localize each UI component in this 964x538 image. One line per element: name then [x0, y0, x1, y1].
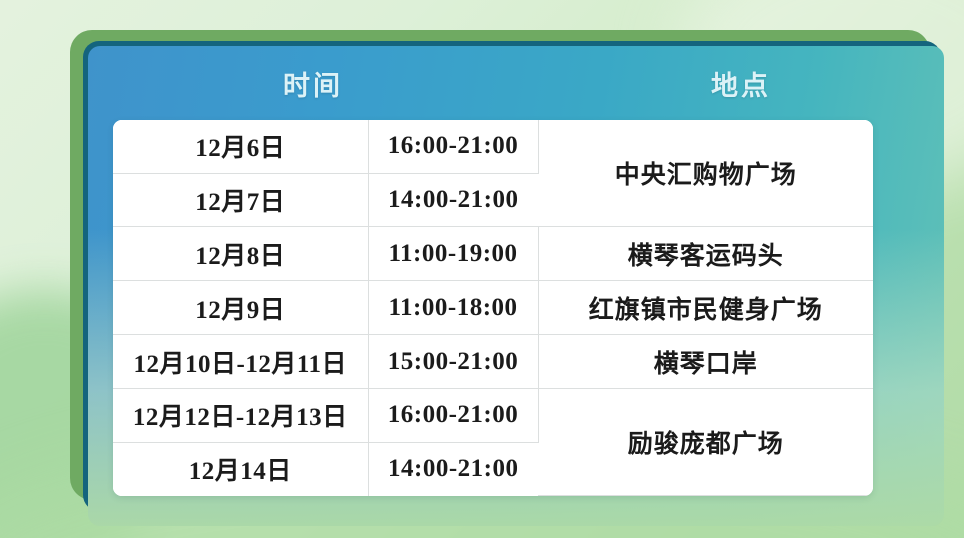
cell-date: 12月9日: [113, 281, 368, 335]
cell-place: 红旗镇市民健身广场: [538, 281, 873, 335]
cell-place: 励骏庞都广场: [538, 388, 873, 495]
table-row: 12月12日-12月13日16:00-21:00励骏庞都广场: [113, 388, 873, 442]
schedule-table-container: 12月6日16:00-21:00中央汇购物广场12月7日14:00-21:001…: [113, 120, 873, 496]
cell-date: 12月14日: [113, 442, 368, 495]
cell-place: 中央汇购物广场: [538, 120, 873, 227]
cell-date: 12月7日: [113, 173, 368, 227]
cell-time: 16:00-21:00: [368, 120, 538, 173]
schedule-table: 12月6日16:00-21:00中央汇购物广场12月7日14:00-21:001…: [113, 120, 873, 496]
cell-time: 11:00-19:00: [368, 227, 538, 281]
cell-date: 12月6日: [113, 120, 368, 173]
cell-place: 横琴口岸: [538, 335, 873, 389]
schedule-table-body: 12月6日16:00-21:00中央汇购物广场12月7日14:00-21:001…: [113, 120, 873, 496]
table-row: 12月9日11:00-18:00红旗镇市民健身广场: [113, 281, 873, 335]
table-row: 12月8日11:00-19:00横琴客运码头: [113, 227, 873, 281]
cell-time: 16:00-21:00: [368, 388, 538, 442]
cell-date: 12月10日-12月11日: [113, 335, 368, 389]
cell-place: 横琴客运码头: [538, 227, 873, 281]
cell-date: 12月8日: [113, 227, 368, 281]
cell-time: 14:00-21:00: [368, 173, 538, 227]
table-row: 12月10日-12月11日15:00-21:00横琴口岸: [113, 335, 873, 389]
cell-time: 11:00-18:00: [368, 281, 538, 335]
cell-time: 14:00-21:00: [368, 442, 538, 495]
table-row: 12月6日16:00-21:00中央汇购物广场: [113, 120, 873, 173]
cell-time: 15:00-21:00: [368, 335, 538, 389]
cell-date: 12月12日-12月13日: [113, 388, 368, 442]
